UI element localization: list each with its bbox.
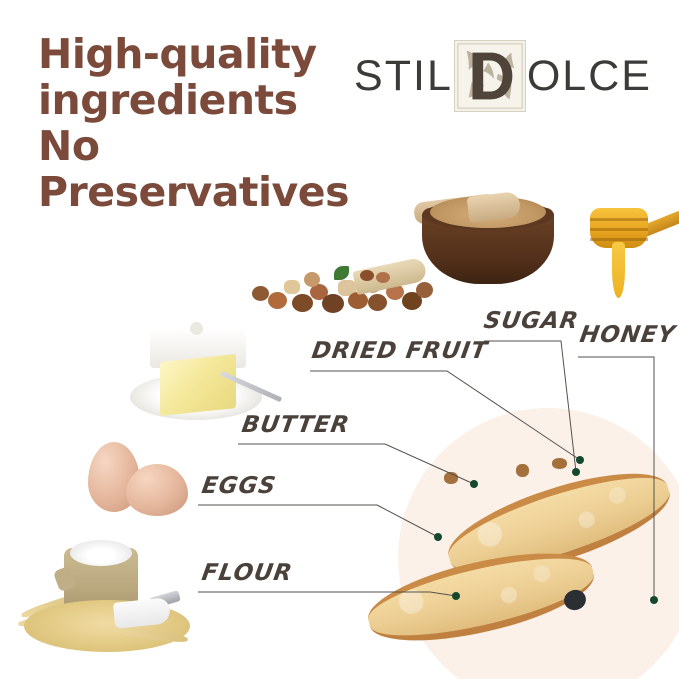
callout-label-dried-fruit: DRIED FRUIT xyxy=(310,338,490,364)
callout-label-sugar: SUGAR xyxy=(482,308,581,334)
photo-honey xyxy=(588,196,679,314)
callout-label-honey: HONEY xyxy=(578,322,678,348)
logo-text-left: STIL xyxy=(354,55,453,98)
photo-biscotti xyxy=(372,430,679,679)
brand-logo: STIL OLCE xyxy=(358,38,648,114)
ornate-d-monogram-icon xyxy=(454,40,526,112)
photo-sugar xyxy=(412,182,572,298)
callout-label-flour: FLOUR xyxy=(200,560,295,586)
ingredients-infographic: High-quality ingredients No Preservative… xyxy=(0,0,679,679)
photo-flour xyxy=(18,538,200,664)
callout-label-butter: BUTTER xyxy=(240,412,352,438)
logo-text-right: OLCE xyxy=(527,55,652,98)
page-title: High-quality ingredients No Preservative… xyxy=(38,32,368,216)
photo-eggs xyxy=(82,438,202,530)
callout-label-eggs: EGGS xyxy=(200,473,278,499)
photo-dried-fruit xyxy=(246,258,436,320)
